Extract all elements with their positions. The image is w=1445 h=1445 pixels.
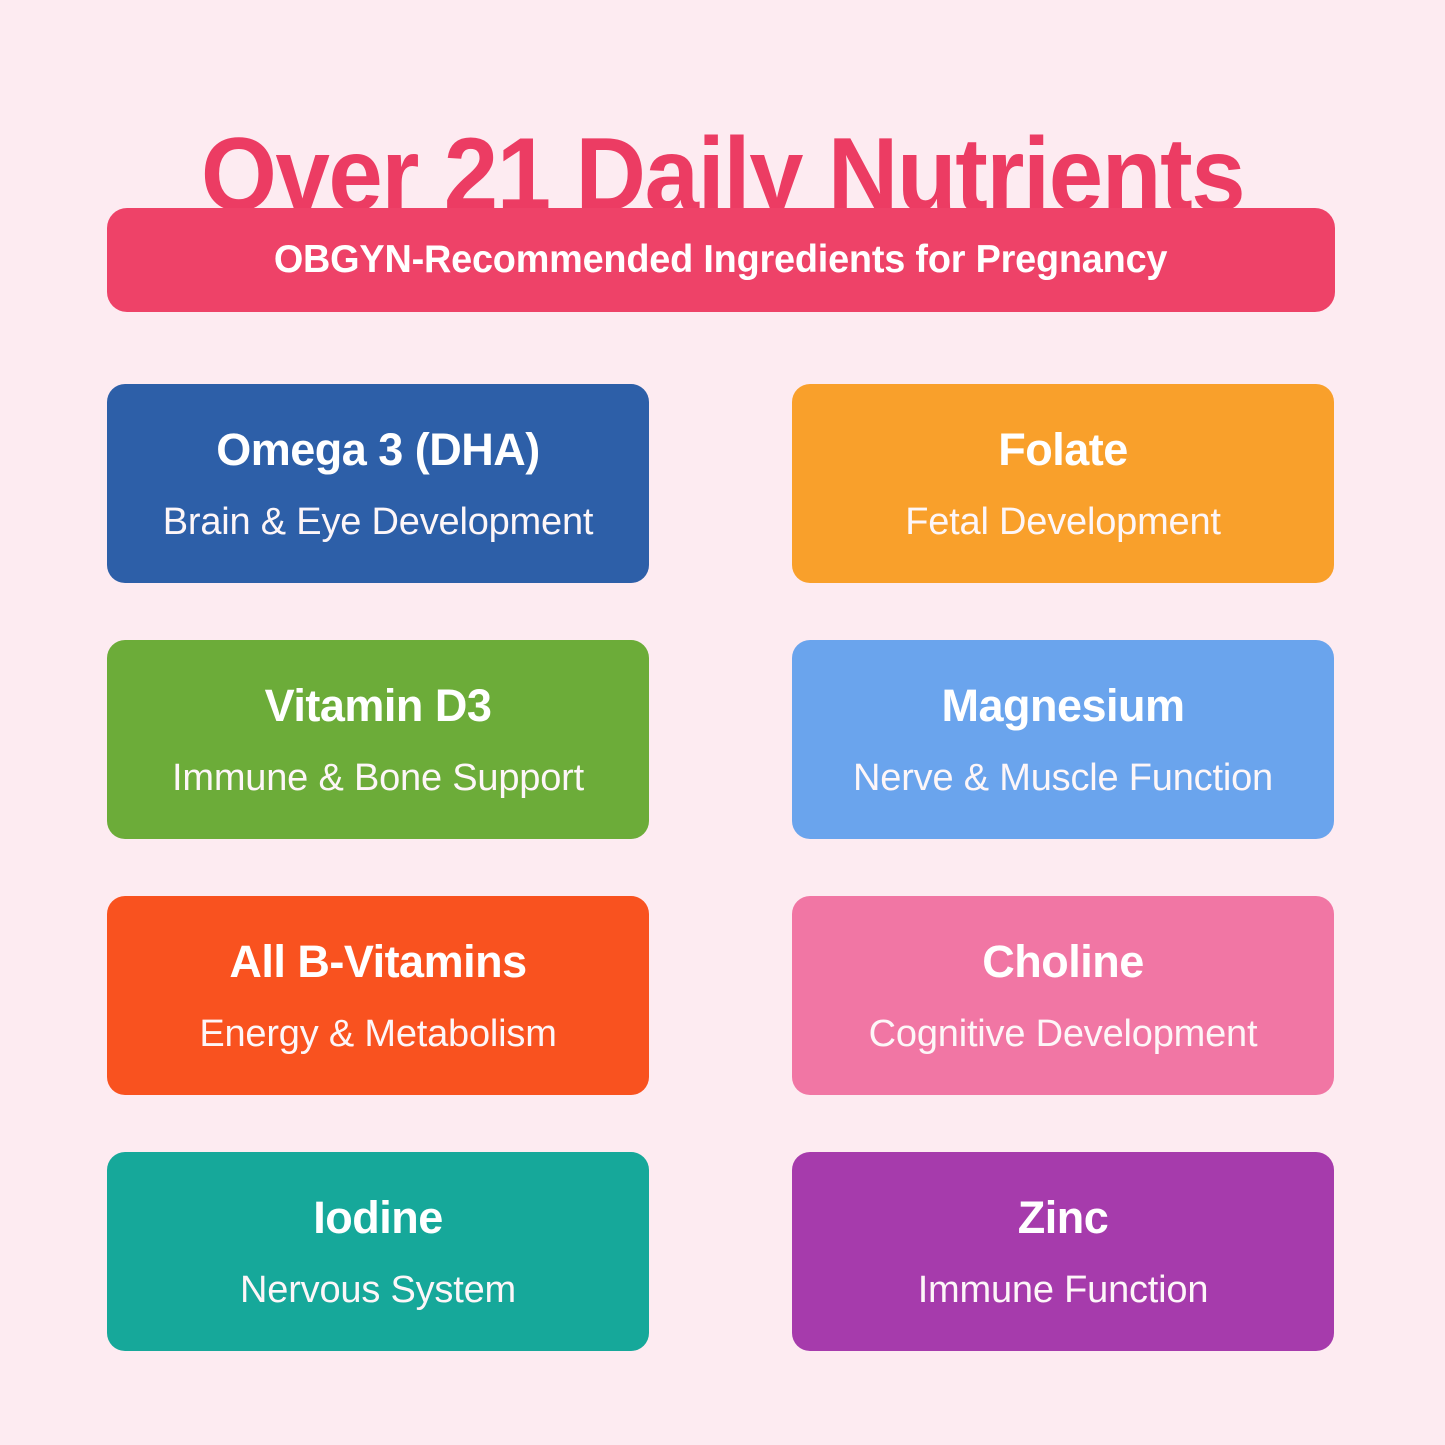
obgyn-banner-label: OBGYN-Recommended Ingredients for Pregna… <box>274 238 1167 282</box>
nutrient-card-choline: Choline Cognitive Development <box>792 896 1334 1095</box>
nutrient-card-magnesium: Magnesium Nerve & Muscle Function <box>792 640 1334 839</box>
nutrient-name: Folate <box>998 424 1128 476</box>
nutrient-card-vitamin-d3: Vitamin D3 Immune & Bone Support <box>107 640 649 839</box>
nutrient-name: Zinc <box>1018 1192 1109 1244</box>
nutrient-card-folate: Folate Fetal Development <box>792 384 1334 583</box>
nutrient-name: Iodine <box>313 1192 443 1244</box>
nutrient-card-zinc: Zinc Immune Function <box>792 1152 1334 1351</box>
obgyn-banner: OBGYN-Recommended Ingredients for Pregna… <box>107 208 1335 312</box>
nutrient-benefit: Cognitive Development <box>869 1012 1258 1056</box>
nutrient-benefit: Fetal Development <box>905 500 1221 544</box>
nutrient-card-omega-3-dha: Omega 3 (DHA) Brain & Eye Development <box>107 384 649 583</box>
nutrient-benefit: Nervous System <box>240 1268 516 1312</box>
nutrient-card-grid: Omega 3 (DHA) Brain & Eye Development Fo… <box>107 384 1334 1351</box>
nutrient-benefit: Brain & Eye Development <box>163 500 594 544</box>
nutrient-name: Magnesium <box>941 680 1184 732</box>
infographic-page: Over 21 Daily Nutrients OBGYN-Recommende… <box>0 0 1445 1445</box>
nutrient-card-all-b-vitamins: All B-Vitamins Energy & Metabolism <box>107 896 649 1095</box>
nutrient-name: Omega 3 (DHA) <box>216 424 540 476</box>
nutrient-card-iodine: Iodine Nervous System <box>107 1152 649 1351</box>
nutrient-benefit: Nerve & Muscle Function <box>853 756 1273 800</box>
nutrient-benefit: Immune Function <box>918 1268 1209 1312</box>
nutrient-benefit: Immune & Bone Support <box>172 756 584 800</box>
nutrient-name: Vitamin D3 <box>265 680 492 732</box>
nutrient-benefit: Energy & Metabolism <box>199 1012 556 1056</box>
nutrient-name: Choline <box>982 936 1144 988</box>
nutrient-name: All B-Vitamins <box>229 936 526 988</box>
